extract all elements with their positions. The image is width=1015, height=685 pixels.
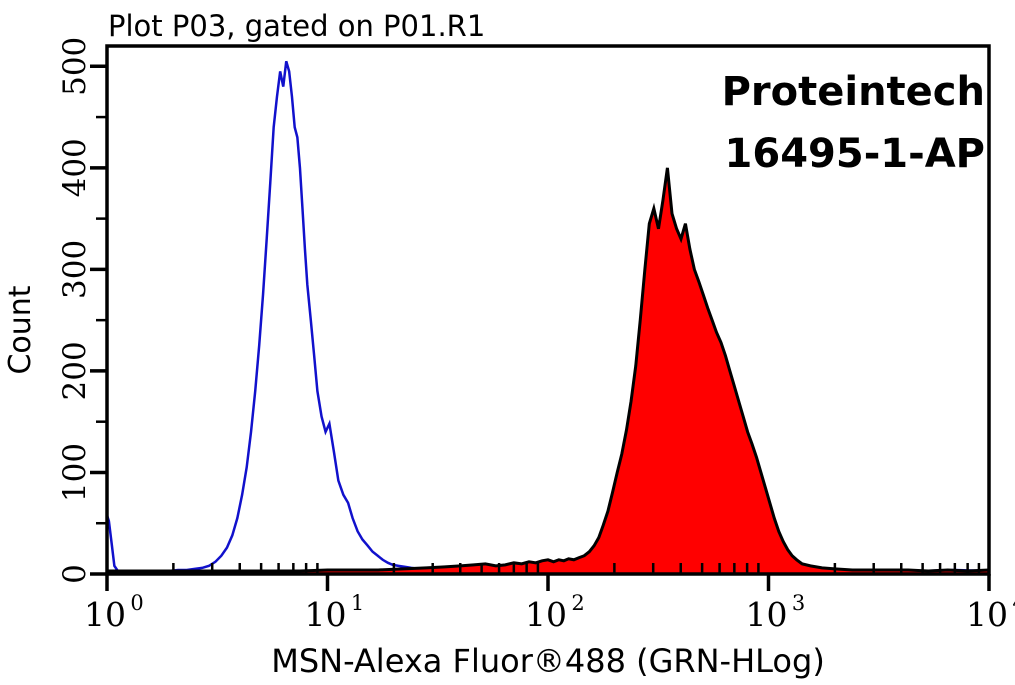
svg-text:0: 0 xyxy=(130,591,143,615)
page-title: Plot P03, gated on P01.R1 xyxy=(108,9,485,43)
svg-text:10: 10 xyxy=(305,595,347,634)
chart-canvas: Plot P03, gated on P01.R1 Proteintech 16… xyxy=(0,0,1015,685)
y-tick-label-2: 200 xyxy=(57,341,93,400)
y-axis-label: Count xyxy=(3,285,38,374)
svg-text:10: 10 xyxy=(746,595,788,634)
svg-text:3: 3 xyxy=(792,591,805,615)
y-tick-label-5: 500 xyxy=(57,37,93,96)
svg-text:10: 10 xyxy=(966,595,1008,634)
y-tick-label-4: 400 xyxy=(57,138,93,197)
svg-text:10: 10 xyxy=(525,595,567,634)
flow-cytometry-histogram: Plot P03, gated on P01.R1 Proteintech 16… xyxy=(0,0,1015,685)
y-tick-label-1: 100 xyxy=(57,443,93,502)
y-tick-label-3: 300 xyxy=(57,240,93,299)
x-axis-label: MSN-Alexa Fluor®488 (GRN-HLog) xyxy=(271,642,825,680)
svg-text:10: 10 xyxy=(84,595,126,634)
catalog-number: 16495-1-AP xyxy=(725,131,985,177)
x-tick-label-4: 104 xyxy=(966,591,1015,634)
svg-text:1: 1 xyxy=(351,591,364,615)
y-tick-label-0: 0 xyxy=(57,564,93,584)
svg-text:2: 2 xyxy=(571,591,584,615)
brand-name: Proteintech xyxy=(722,69,985,115)
